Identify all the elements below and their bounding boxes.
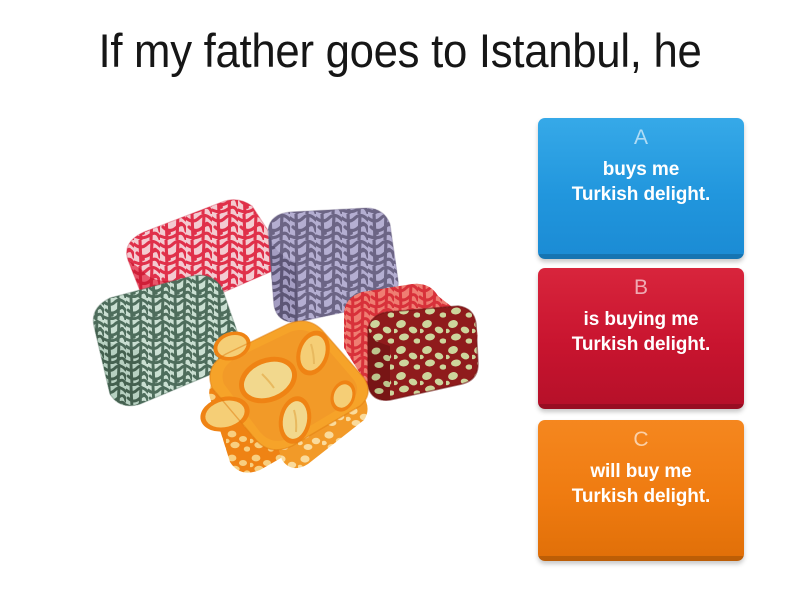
answer-letter-a: A (546, 125, 736, 151)
answer-card-c[interactable]: C will buy me Turkish delight. (538, 420, 744, 561)
question-text: If my father goes to Istanbul, he (28, 22, 772, 80)
quiz-slide: If my father goes to Istanbul, he (0, 0, 800, 600)
answer-text-c: will buy me Turkish delight. (546, 459, 736, 509)
answer-letter-c: C (546, 427, 736, 453)
answer-text-a-line1: buys me (546, 157, 736, 182)
answer-text-b-line2: Turkish delight. (546, 332, 736, 357)
turkish-delight-illustration (82, 188, 502, 488)
answer-text-a-line2: Turkish delight. (546, 182, 736, 207)
answer-text-c-line2: Turkish delight. (546, 484, 736, 509)
answer-card-b[interactable]: B is buying me Turkish delight. (538, 268, 744, 409)
answer-letter-b: B (546, 275, 736, 301)
answer-card-a[interactable]: A buys me Turkish delight. (538, 118, 744, 259)
candy-orange-cube (197, 321, 369, 473)
answer-text-a: buys me Turkish delight. (546, 157, 736, 207)
answer-text-b-line1: is buying me (546, 307, 736, 332)
answer-text-b: is buying me Turkish delight. (546, 307, 736, 357)
answer-text-c-line1: will buy me (546, 459, 736, 484)
